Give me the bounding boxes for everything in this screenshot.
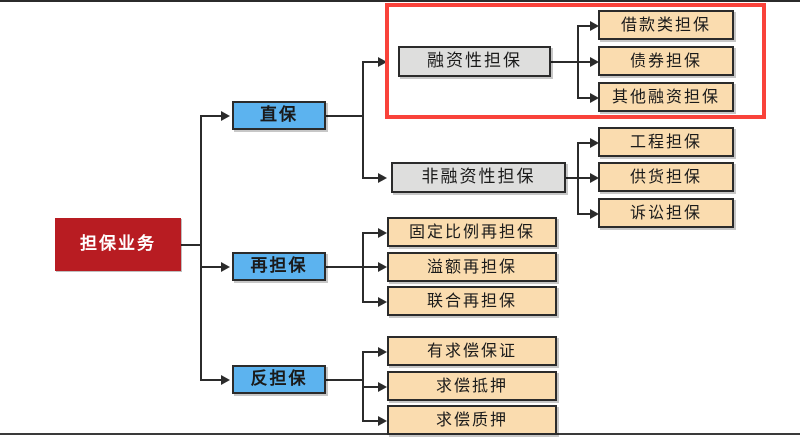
node-recourse-mortgage[interactable]: 求偿抵押 (387, 371, 557, 401)
arrow-reguarantee-child-3 (378, 297, 387, 307)
connector-direct-stub (325, 115, 363, 117)
node-engineering-guarantee[interactable]: 工程担保 (598, 127, 734, 157)
connector-counterguarantee-stub (325, 379, 363, 381)
arrow-root-to-reguarantee (221, 262, 230, 272)
node-bond-guarantee-label: 债券担保 (630, 53, 702, 69)
node-fixed-ratio-reguarantee-label: 固定比例再担保 (409, 224, 535, 240)
connector-root-to-reguarantee (200, 266, 222, 268)
node-loan-guarantee[interactable]: 借款类担保 (598, 10, 734, 40)
node-litigation-guarantee[interactable]: 诉讼担保 (598, 198, 734, 228)
connector-root-to-direct (200, 115, 222, 117)
node-other-financing-guarantee-label: 其他融资担保 (612, 89, 720, 105)
arrow-root-to-direct (221, 111, 230, 121)
node-excess-reguarantee[interactable]: 溢额再担保 (387, 252, 557, 282)
node-financing-guarantee[interactable]: 融资性担保 (398, 46, 551, 77)
node-recourse-pledge-label: 求偿质押 (436, 412, 508, 428)
connector-reguarantee-stub (325, 266, 363, 268)
node-counterguarantee[interactable]: 反担保 (232, 365, 326, 394)
connector-root-to-counterguarantee (200, 379, 222, 381)
arrow-root-to-counterguarantee (221, 375, 230, 385)
node-loan-guarantee-label: 借款类担保 (621, 17, 711, 33)
node-reguarantee[interactable]: 再担保 (232, 252, 326, 281)
node-joint-reguarantee[interactable]: 联合再担保 (387, 286, 557, 316)
node-root-label: 担保业务 (80, 236, 156, 253)
node-direct-guarantee-label: 直保 (260, 107, 298, 124)
node-recourse-suretyship[interactable]: 有求偿保证 (387, 336, 557, 366)
node-nonfinancing-guarantee[interactable]: 非融资性担保 (391, 162, 566, 193)
node-litigation-guarantee-label: 诉讼担保 (630, 205, 702, 221)
node-supply-guarantee[interactable]: 供货担保 (598, 162, 734, 192)
connector-root-trunk (200, 115, 202, 380)
node-other-financing-guarantee[interactable]: 其他融资担保 (598, 82, 734, 112)
arrow-direct-to-financing (378, 57, 387, 67)
arrow-counterguarantee-child-2 (378, 382, 387, 392)
arrow-counterguarantee-child-3 (378, 416, 387, 426)
connector-direct-trunk (362, 61, 364, 178)
arrow-counterguarantee-child-1 (378, 347, 387, 357)
arrow-direct-to-nonfinancing (378, 173, 387, 183)
connector-root-stub (180, 244, 202, 246)
diagram-canvas: 担保业务 直保 再担保 反担保 融资性担保 非融资性担保 借款类担保 债券担保 … (0, 0, 800, 441)
node-nonfinancing-guarantee-label: 非融资性担保 (422, 169, 536, 186)
node-bond-guarantee[interactable]: 债券担保 (598, 46, 734, 76)
node-financing-guarantee-label: 融资性担保 (427, 53, 522, 70)
node-reguarantee-label: 再担保 (251, 258, 308, 275)
top-divider-rule (0, 0, 800, 2)
arrow-reguarantee-child-1 (378, 228, 387, 238)
node-root-guarantee-business[interactable]: 担保业务 (55, 218, 181, 271)
node-supply-guarantee-label: 供货担保 (630, 169, 702, 185)
node-excess-reguarantee-label: 溢额再担保 (427, 259, 517, 275)
node-direct-guarantee[interactable]: 直保 (232, 101, 326, 130)
node-engineering-guarantee-label: 工程担保 (630, 134, 702, 150)
node-recourse-suretyship-label: 有求偿保证 (427, 343, 517, 359)
node-joint-reguarantee-label: 联合再担保 (427, 293, 517, 309)
node-recourse-mortgage-label: 求偿抵押 (436, 378, 508, 394)
connector-financing-stub (550, 61, 578, 63)
node-recourse-pledge[interactable]: 求偿质押 (387, 405, 557, 435)
node-counterguarantee-label: 反担保 (251, 371, 308, 388)
arrow-reguarantee-child-2 (378, 262, 387, 272)
node-fixed-ratio-reguarantee[interactable]: 固定比例再担保 (387, 217, 557, 247)
